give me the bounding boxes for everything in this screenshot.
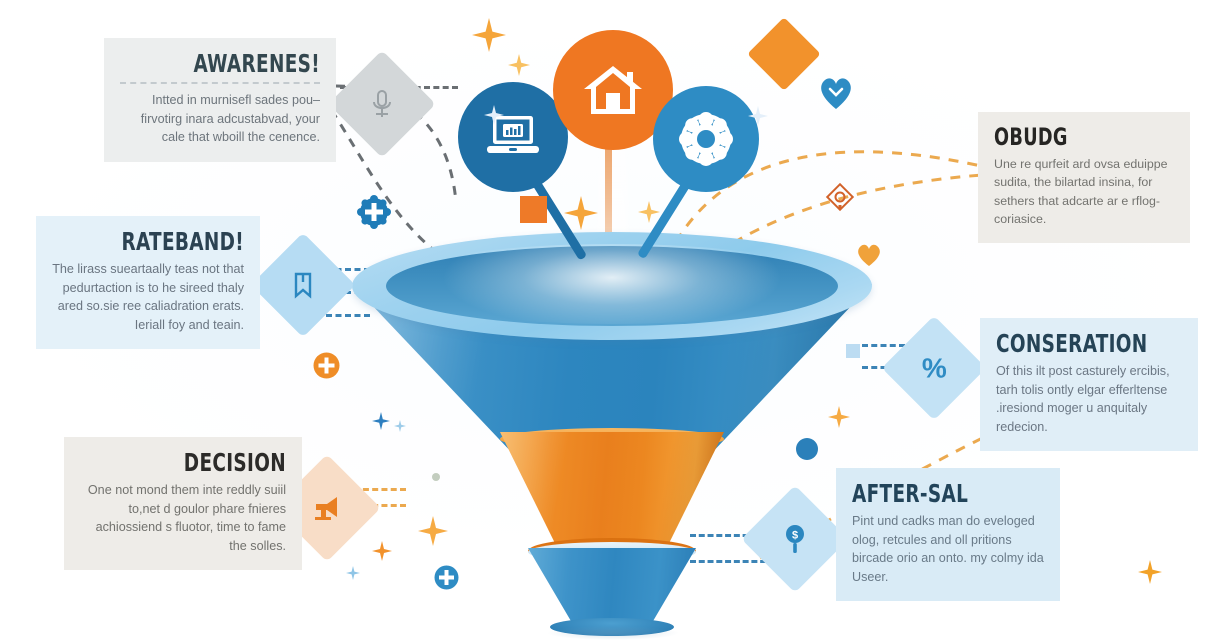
funnel-ground-shadow bbox=[548, 626, 678, 640]
svg-text:$: $ bbox=[792, 530, 798, 542]
sparkle-orange-2 bbox=[508, 54, 530, 76]
microphone-icon bbox=[370, 90, 394, 118]
house-icon bbox=[582, 62, 644, 118]
diamond-bookmark[interactable] bbox=[251, 233, 356, 338]
callout-conseration-heading: CONSERATION bbox=[996, 331, 1149, 357]
callout-aftersal-heading: AFTER-SAL bbox=[852, 481, 1009, 507]
callout-aftersal-body: Pint und cadks man do eveloged olog, ret… bbox=[852, 512, 1044, 586]
heart-icon-blue bbox=[818, 76, 854, 110]
callout-obudg[interactable]: OBUDG Une re qurfeit ard ovsa eduippe su… bbox=[978, 112, 1190, 243]
diamond-microphone[interactable] bbox=[328, 50, 435, 157]
diamond-shape-icon-orange bbox=[747, 17, 821, 91]
callout-awareness-heading: AWARENES! bbox=[156, 51, 320, 77]
square-shape-icon-blue bbox=[846, 344, 860, 358]
callout-obudg-body: Une re qurfeit ard ovsa eduippe sudita, … bbox=[994, 155, 1174, 228]
gear-cross-icon bbox=[358, 196, 390, 228]
callout-awareness-body: Intted in murnisefl sades pou– firvotirg… bbox=[120, 91, 320, 147]
funnel-mouth-glow bbox=[386, 244, 838, 324]
megaphone-icon bbox=[313, 495, 341, 521]
dot-blue-large bbox=[796, 438, 818, 460]
callout-decision[interactable]: DECISION One not mond them inte reddly s… bbox=[64, 437, 302, 570]
dollar-pin-icon: $ bbox=[783, 524, 807, 554]
callout-rateband-body: The lirass sueartaally teas not that ped… bbox=[52, 260, 244, 334]
gear-bubble-circle[interactable] bbox=[653, 86, 759, 192]
sparkle-orange-1 bbox=[472, 18, 506, 52]
callout-aftersal[interactable]: AFTER-SAL Pint und cadks man do eveloged… bbox=[836, 468, 1060, 601]
callout-rateband[interactable]: RATEBAND! The lirass sueartaally teas no… bbox=[36, 216, 260, 349]
percent-icon: % bbox=[922, 354, 947, 382]
square-shape-icon-orange bbox=[520, 196, 547, 223]
infographic-canvas: % $ bbox=[0, 0, 1216, 640]
target-icon-orange bbox=[827, 184, 853, 210]
funnel-stage-bottom bbox=[528, 548, 696, 628]
diamond-percent[interactable]: % bbox=[882, 316, 987, 421]
laptop-bubble-circle[interactable] bbox=[458, 82, 568, 192]
callout-conseration-body: Of this ilt post casturely ercibis, tarh… bbox=[996, 362, 1182, 436]
gear-flower-icon bbox=[677, 110, 735, 168]
callout-rateband-heading: RATEBAND! bbox=[87, 229, 244, 255]
callout-awareness-divider bbox=[120, 82, 320, 84]
sparkle-orange-4 bbox=[638, 201, 660, 223]
callout-obudg-heading: OBUDG bbox=[994, 125, 1142, 150]
bookmark-icon bbox=[293, 272, 313, 298]
callout-decision-body: One not mond them inte reddly suiil to,n… bbox=[80, 481, 286, 555]
callout-conseration[interactable]: CONSERATION Of this ilt post casturely e… bbox=[980, 318, 1198, 451]
callout-decision-heading: DECISION bbox=[117, 450, 286, 476]
dot-gray-small bbox=[432, 473, 440, 481]
sparkle-orange-8 bbox=[1138, 560, 1162, 584]
sparkle-orange-3 bbox=[564, 196, 598, 230]
plus-circle-icon-orange bbox=[313, 352, 340, 379]
callout-awareness[interactable]: AWARENES! Intted in murnisefl sades pou–… bbox=[104, 38, 336, 162]
